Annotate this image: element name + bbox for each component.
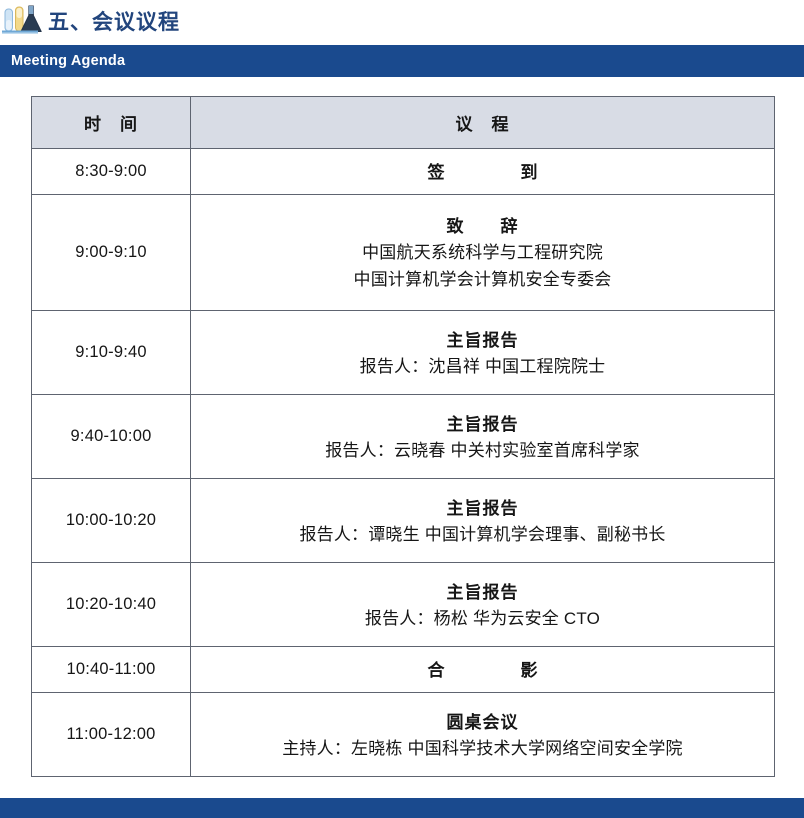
- agenda-item-cell: 致 辞中国航天系统科学与工程研究院中国计算机学会计算机安全专委会: [191, 195, 775, 311]
- table-header-row: 时 间 议 程: [32, 97, 775, 149]
- agenda-item-detail: 报告人：杨松 华为云安全 CTO: [197, 604, 768, 631]
- table-row: 8:30-9:00签 到: [32, 149, 775, 195]
- table-row: 9:40-10:00主旨报告报告人：云晓春 中关村实验室首席科学家: [32, 395, 775, 479]
- table-row: 9:10-9:40主旨报告报告人：沈昌祥 中国工程院院士: [32, 311, 775, 395]
- agenda-item-title: 主旨报告: [197, 411, 768, 436]
- agenda-item-title: 合 影: [197, 657, 768, 682]
- agenda-time-cell: 9:10-9:40: [32, 311, 191, 395]
- section-banner-label: Meeting Agenda: [11, 53, 125, 69]
- agenda-item-detail: 报告人：谭晓生 中国计算机学会理事、副秘书长: [197, 520, 768, 547]
- section-banner: Meeting Agenda: [0, 45, 804, 77]
- agenda-item-title: 致 辞: [197, 213, 768, 238]
- column-header-time: 时 间: [32, 97, 191, 149]
- table-row: 11:00-12:00圆桌会议主持人：左晓栋 中国科学技术大学网络空间安全学院: [32, 693, 775, 777]
- agenda-item-detail: 报告人：云晓春 中关村实验室首席科学家: [197, 436, 768, 463]
- column-header-item: 议 程: [191, 97, 775, 149]
- agenda-time-cell: 8:30-9:00: [32, 149, 191, 195]
- agenda-item-title: 签 到: [197, 159, 768, 184]
- agenda-item-title: 主旨报告: [197, 579, 768, 604]
- agenda-table: 时 间 议 程 8:30-9:00签 到9:00-9:10致 辞中国航天系统科学…: [31, 96, 775, 777]
- agenda-table-body: 8:30-9:00签 到9:00-9:10致 辞中国航天系统科学与工程研究院中国…: [32, 149, 775, 777]
- lab-flask-icon: [1, 2, 43, 42]
- agenda-item-cell: 主旨报告报告人：谭晓生 中国计算机学会理事、副秘书长: [191, 479, 775, 563]
- table-row: 10:00-10:20主旨报告报告人：谭晓生 中国计算机学会理事、副秘书长: [32, 479, 775, 563]
- agenda-item-cell: 签 到: [191, 149, 775, 195]
- page-heading: 五、会议议程: [0, 0, 804, 44]
- agenda-item-cell: 主旨报告报告人：杨松 华为云安全 CTO: [191, 563, 775, 647]
- agenda-time-cell: 10:00-10:20: [32, 479, 191, 563]
- agenda-time-cell: 9:00-9:10: [32, 195, 191, 311]
- footer-bar: [0, 798, 804, 818]
- table-row: 10:40-11:00合 影: [32, 647, 775, 693]
- agenda-item-cell: 合 影: [191, 647, 775, 693]
- agenda-item-cell: 主旨报告报告人：云晓春 中关村实验室首席科学家: [191, 395, 775, 479]
- agenda-time-cell: 11:00-12:00: [32, 693, 191, 777]
- agenda-item-detail: 报告人：沈昌祥 中国工程院院士: [197, 352, 768, 379]
- agenda-item-detail: 主持人：左晓栋 中国科学技术大学网络空间安全学院: [197, 734, 768, 761]
- agenda-table-wrapper: 时 间 议 程 8:30-9:00签 到9:00-9:10致 辞中国航天系统科学…: [31, 96, 774, 777]
- agenda-item-title: 主旨报告: [197, 495, 768, 520]
- agenda-table-head: 时 间 议 程: [32, 97, 775, 149]
- agenda-time-cell: 10:40-11:00: [32, 647, 191, 693]
- agenda-item-detail: 中国航天系统科学与工程研究院: [197, 238, 768, 265]
- agenda-item-cell: 圆桌会议主持人：左晓栋 中国科学技术大学网络空间安全学院: [191, 693, 775, 777]
- agenda-time-cell: 9:40-10:00: [32, 395, 191, 479]
- table-row: 9:00-9:10致 辞中国航天系统科学与工程研究院中国计算机学会计算机安全专委…: [32, 195, 775, 311]
- agenda-item-detail: 中国计算机学会计算机安全专委会: [197, 265, 768, 292]
- agenda-time-cell: 10:20-10:40: [32, 563, 191, 647]
- agenda-item-title: 主旨报告: [197, 327, 768, 352]
- page-title: 五、会议议程: [48, 12, 180, 33]
- table-row: 10:20-10:40主旨报告报告人：杨松 华为云安全 CTO: [32, 563, 775, 647]
- agenda-item-cell: 主旨报告报告人：沈昌祥 中国工程院院士: [191, 311, 775, 395]
- slide-page: 五、会议议程 Meeting Agenda 时 间 议 程 8:3: [0, 0, 804, 818]
- agenda-item-title: 圆桌会议: [197, 709, 768, 734]
